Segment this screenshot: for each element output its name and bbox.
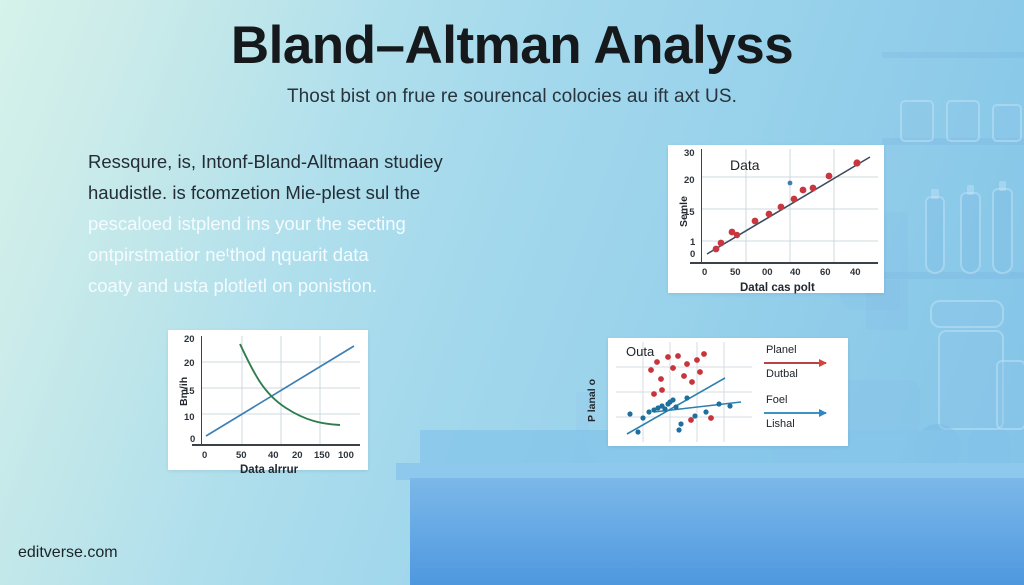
x-tick-label: 60 bbox=[820, 267, 831, 278]
x-tick-label: 100 bbox=[338, 450, 354, 461]
page-title: Bland–Altman Analyss bbox=[0, 18, 1024, 74]
y-tick-label: 0 bbox=[690, 249, 695, 260]
y-tick-label: 30 bbox=[684, 148, 695, 159]
flask-icon bbox=[548, 432, 616, 510]
shelf-icon bbox=[882, 138, 1024, 145]
x-tick-label: 20 bbox=[292, 450, 303, 461]
x-axis-line bbox=[192, 444, 360, 446]
y-tick-label: 20 bbox=[184, 358, 195, 369]
scatter-fit-plot bbox=[702, 149, 878, 262]
x-tick-label: 0 bbox=[202, 450, 207, 461]
y-axis-title: Semle bbox=[678, 196, 690, 227]
x-tick-label: 50 bbox=[236, 450, 247, 461]
chart-crossing-lines: 20 20 15 10 0 Bm/ih 0 50 40 20 150 10 bbox=[168, 330, 368, 470]
body-line: pescaloed istplend ins your the secting bbox=[88, 208, 518, 239]
x-axis-title: Datal cas polt bbox=[740, 282, 815, 294]
test-tube-icon bbox=[925, 196, 945, 274]
y-axis-title: Bm/ih bbox=[178, 377, 190, 406]
decorative-blob bbox=[968, 430, 1010, 472]
legend-arrow-red-icon bbox=[764, 362, 826, 364]
y-axis-title: P lanal o bbox=[586, 379, 598, 422]
reagent-bottle-icon bbox=[930, 300, 1004, 328]
test-tube-icon bbox=[960, 192, 981, 274]
reagent-bottle-icon bbox=[938, 330, 1004, 430]
body-line: haudistle. is fcomzetion Mie-plest sul t… bbox=[88, 177, 518, 208]
legend-label-top: Foel bbox=[766, 394, 787, 406]
body-line: ontpirstmatior neᵗthod ɳquarit data bbox=[88, 239, 518, 270]
chart-scatter-fit: 30 20 15 1 0 Semle bbox=[668, 145, 884, 293]
counter-edge bbox=[396, 463, 1024, 480]
x-tick-label: 40 bbox=[790, 267, 801, 278]
y-tick-label: 10 bbox=[184, 412, 195, 423]
page-subtitle: Thost bist on frue re sourencal colocies… bbox=[0, 86, 1024, 108]
y-tick-label: 1 bbox=[690, 237, 695, 248]
x-tick-label: 40 bbox=[850, 267, 861, 278]
body-line: Ressqure, is, Intonf-Bland-Alltmaan stud… bbox=[88, 146, 518, 177]
legend-label-bottom: Dutbal bbox=[766, 368, 798, 380]
legend-label-top: Planel bbox=[766, 344, 797, 356]
x-tick-label: 0 bbox=[702, 267, 707, 278]
y-tick-label: 20 bbox=[184, 334, 195, 345]
legend-label-bottom: Lishal bbox=[766, 418, 795, 430]
footer-watermark: editverse.com bbox=[18, 544, 118, 562]
x-tick-label: 50 bbox=[730, 267, 741, 278]
x-tick-label: 40 bbox=[268, 450, 279, 461]
bottle-icon bbox=[992, 104, 1022, 142]
chart-inline-label: Data bbox=[730, 157, 760, 173]
chart-inline-label: Outa bbox=[626, 344, 654, 359]
decorative-blob bbox=[914, 424, 962, 472]
crossing-lines-plot bbox=[202, 336, 360, 444]
legend-item-planel: Planel Dutbal bbox=[764, 344, 844, 384]
x-axis-title: Data alrrur bbox=[240, 464, 298, 476]
body-paragraph: Ressqure, is, Intonf-Bland-Alltmaan stud… bbox=[88, 146, 518, 301]
x-tick-label: 00 bbox=[762, 267, 773, 278]
reagent-bottle-icon bbox=[996, 360, 1024, 430]
y-tick-label: 20 bbox=[684, 175, 695, 186]
legend-arrow-blue-icon bbox=[764, 412, 826, 414]
x-tick-label: 150 bbox=[314, 450, 330, 461]
slide-canvas: Bland–Altman Analyss Thost bist on frue … bbox=[0, 0, 1024, 585]
chart-group-scatter: P lanal o bbox=[608, 338, 848, 446]
test-tube-icon bbox=[992, 188, 1013, 274]
lab-counter bbox=[410, 478, 1024, 585]
shelf-icon bbox=[882, 272, 1024, 279]
legend-item-foel: Foel Lishal bbox=[764, 394, 844, 434]
x-axis-line bbox=[690, 262, 878, 264]
body-line: coaty and usta plotletl on ponistion. bbox=[88, 270, 518, 301]
